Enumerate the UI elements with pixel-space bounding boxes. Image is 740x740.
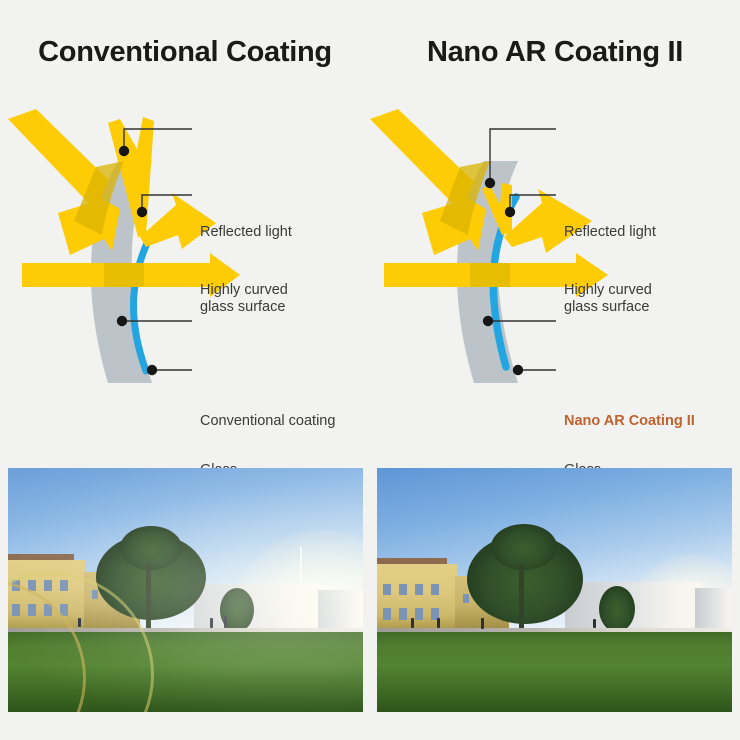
building-left xyxy=(377,564,457,632)
label-coating-nano-ar: Nano AR Coating II xyxy=(564,413,695,430)
tree-small xyxy=(599,586,635,632)
leader-glass xyxy=(513,365,556,375)
photo-conventional xyxy=(8,468,363,712)
ray-glass-overlap-horizontal xyxy=(470,263,510,287)
building-far-right xyxy=(695,588,732,632)
window xyxy=(415,584,423,595)
photo-scene-nano-ar xyxy=(377,468,732,712)
window xyxy=(383,584,391,595)
window xyxy=(415,608,423,620)
label-reflected-light-conventional: Reflected light xyxy=(200,224,292,241)
tree-trunk xyxy=(519,564,524,634)
person xyxy=(411,618,414,628)
ray-glass-overlap-horizontal xyxy=(104,263,144,287)
diagram-conventional: Reflected light Highly curved glass surf… xyxy=(0,105,370,415)
window xyxy=(399,584,407,595)
person xyxy=(481,618,484,629)
person xyxy=(593,619,596,628)
panel-title-conventional: Conventional Coating xyxy=(0,36,370,69)
label-reflected-light-nano-ar: Reflected light xyxy=(564,224,656,241)
tree-canopy-upper xyxy=(491,524,557,570)
window xyxy=(431,584,439,595)
window xyxy=(383,608,391,620)
label-highly-curved-glass-conventional: Highly curved glass surface xyxy=(200,282,288,316)
person xyxy=(437,618,440,628)
diagram-nano-ar: Reflected light Highly curved glass surf… xyxy=(370,105,740,415)
photo-nano-ar xyxy=(377,468,732,712)
window xyxy=(463,594,469,603)
photo-scene-conventional xyxy=(8,468,363,712)
leader-glass xyxy=(147,365,192,375)
window xyxy=(399,608,407,620)
panel-title-nano-ar: Nano AR Coating II xyxy=(370,36,740,69)
veiling-glare xyxy=(8,468,363,712)
diagram-svg-nano-ar xyxy=(370,105,740,415)
lawn xyxy=(377,632,732,712)
diagram-svg-conventional xyxy=(0,105,370,415)
label-highly-curved-glass-nano-ar: Highly curved glass surface xyxy=(564,282,652,316)
label-coating-conventional: Conventional coating xyxy=(200,413,335,430)
comparison-figure: Conventional Coating Nano AR Coating II xyxy=(0,0,740,740)
